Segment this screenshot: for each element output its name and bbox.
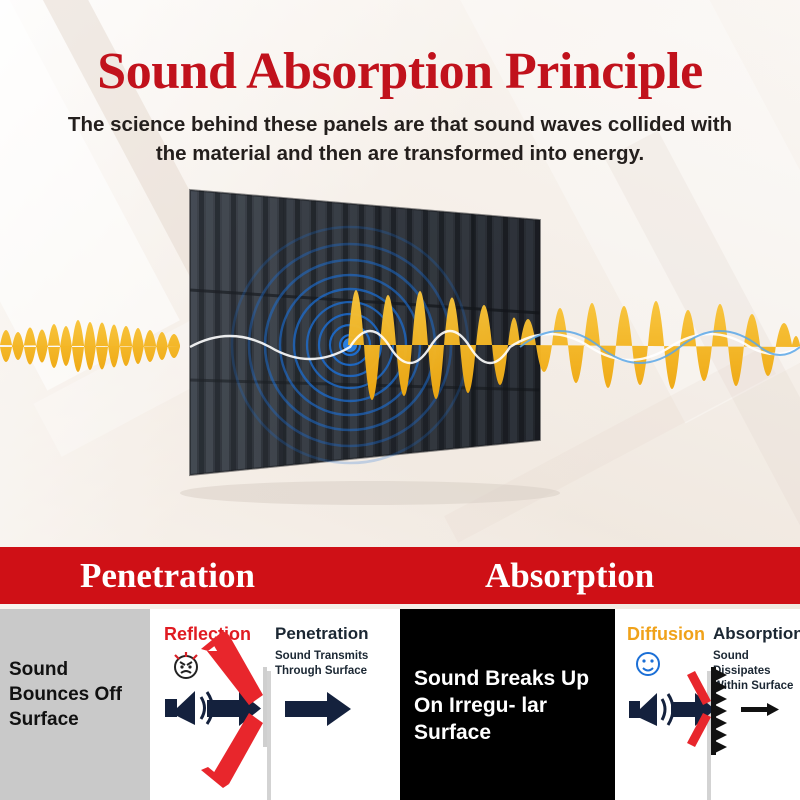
panel-sound-bounces-off-surface: Sound Bounces Off Surface	[0, 609, 145, 800]
poster-root: Sound Absorption Principle The science b…	[0, 0, 800, 800]
hero-illustration	[0, 175, 800, 545]
band-label-penetration: Penetration	[80, 556, 255, 596]
absorption-arrow-icon	[741, 703, 779, 716]
section-band: Penetration Absorption	[0, 547, 800, 604]
panel-shadow	[180, 481, 560, 505]
penetration-arrow-icon	[285, 692, 351, 726]
speaker-icon	[629, 693, 673, 726]
page-subtitle: The science behind these panels are that…	[50, 110, 750, 168]
panel1-body: Sound Bounces Off Surface	[9, 657, 139, 732]
panel4-diagram	[615, 609, 800, 800]
sawtooth-surface-icon	[711, 667, 727, 755]
panel2-diagram	[145, 609, 400, 800]
panel-reflection-penetration: Reflection Penetration Sound Transmits T…	[145, 609, 400, 800]
speaker-icon	[165, 691, 213, 725]
happy-face-icon	[637, 653, 659, 675]
panel3-body: Sound Breaks Up On Irregu- lar Surface	[414, 665, 606, 746]
page-title: Sound Absorption Principle	[0, 42, 800, 101]
surface-line	[263, 667, 267, 747]
panel-diffusion-absorption: Diffusion Absorption Sound Dissipates Wi…	[615, 609, 800, 800]
panel-sound-breaks-up: Sound Breaks Up On Irregu- lar Surface	[400, 609, 615, 800]
band-label-absorption: Absorption	[485, 556, 654, 596]
angry-face-icon	[175, 652, 197, 678]
panels-row: Sound Bounces Off Surface Reflection Pen…	[0, 609, 800, 800]
